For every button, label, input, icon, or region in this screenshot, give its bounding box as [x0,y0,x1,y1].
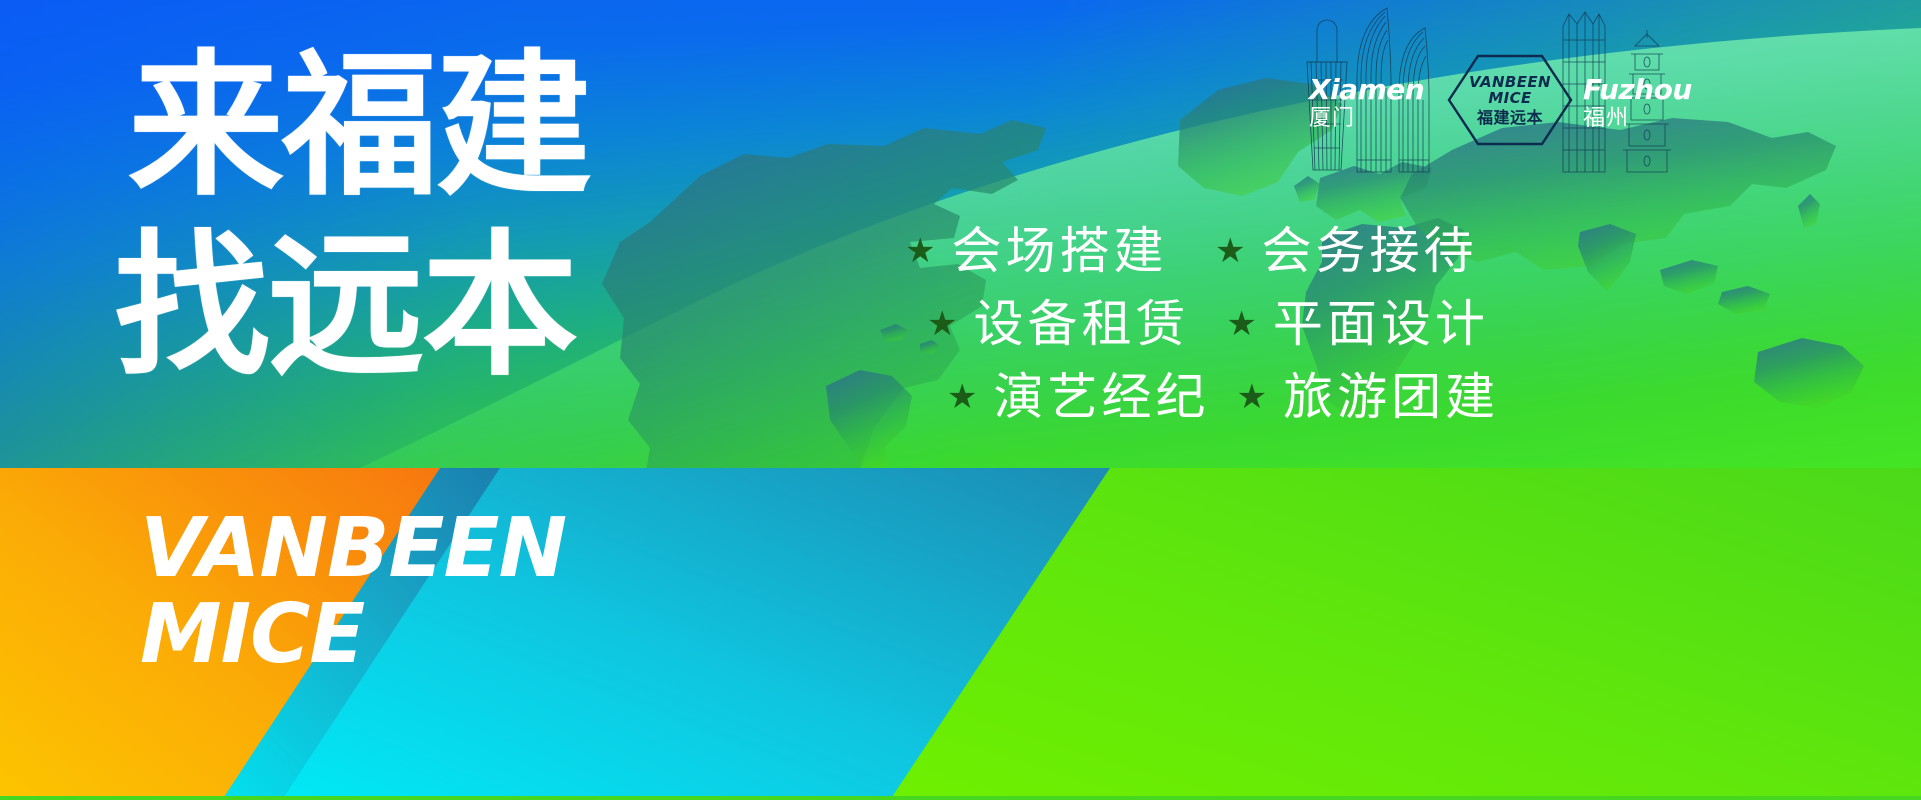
bottom-bar: VANBEEN MICE [0,468,1921,800]
city-label-fuzhou: Fuzhou 福州 [1583,76,1692,130]
hex-line-3: 福建远本 [1477,109,1543,126]
star-icon: ★ [927,307,957,341]
service-list: ★ 会场搭建 ★ 会务接待 ★ 设备租赁 ★ 平面设计 [905,214,1545,434]
service-item: ★ 设备租赁 [927,299,1226,349]
service-label: 会场搭建 [951,226,1167,276]
star-icon: ★ [1226,307,1256,341]
service-row: ★ 演艺经纪 ★ 旅游团建 [905,360,1545,433]
headline: 来福建 找远本 [128,36,748,436]
banner-root: 来福建 找远本 ★ 会场搭建 ★ 会务接待 ★ 设备租赁 [0,0,1921,800]
service-item: ★ 旅游团建 [1237,372,1545,422]
headline-line-1: 来福建 [128,36,748,216]
brand-line-1: VANBEEN [140,510,566,588]
service-label: 旅游团建 [1283,372,1499,422]
landmark-cluster: Xiamen 厦门 Fuzhou 福州 VANBEEN MICE 福建远本 [1295,0,1715,175]
brand-line-2: MICE [140,596,566,674]
star-icon: ★ [905,234,935,268]
bottom-edge-strip [0,796,1921,800]
service-item: ★ 会务接待 [1215,226,1545,276]
service-row: ★ 会场搭建 ★ 会务接待 [905,214,1545,287]
service-label: 设备租赁 [973,299,1189,349]
service-label: 平面设计 [1273,299,1489,349]
headline-line-2: 找远本 [114,216,748,396]
service-label: 演艺经纪 [993,372,1209,422]
city-label-xiamen: Xiamen 厦门 [1309,76,1424,130]
city-name-en: Fuzhou [1583,76,1692,104]
service-row: ★ 设备租赁 ★ 平面设计 [905,287,1545,360]
star-icon: ★ [1215,234,1245,268]
hexagon-logo-text: VANBEEN MICE 福建远本 [1447,54,1573,146]
city-name-cn: 厦门 [1309,108,1424,130]
city-name-cn: 福州 [1583,108,1692,130]
service-item: ★ 平面设计 [1226,299,1545,349]
hex-line-2: MICE [1488,90,1531,106]
star-icon: ★ [1237,380,1267,414]
service-item: ★ 演艺经纪 [947,372,1237,422]
top-panel: 来福建 找远本 ★ 会场搭建 ★ 会务接待 ★ 设备租赁 [0,0,1921,468]
hex-line-1: VANBEEN [1469,74,1551,90]
brand-wordmark: VANBEEN MICE [140,510,566,674]
hexagon-logo: VANBEEN MICE 福建远本 [1447,54,1573,146]
city-name-en: Xiamen [1309,76,1424,104]
service-item: ★ 会场搭建 [905,226,1215,276]
star-icon: ★ [947,380,977,414]
service-label: 会务接待 [1261,226,1477,276]
